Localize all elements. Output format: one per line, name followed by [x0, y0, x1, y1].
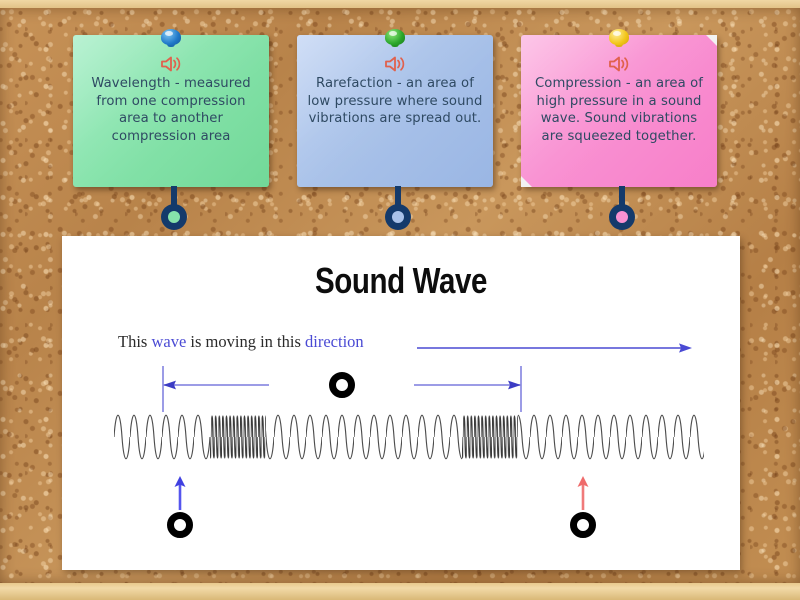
- speaker-icon[interactable]: [608, 56, 630, 72]
- card-wavelength[interactable]: Wavelength - measured from one compressi…: [73, 35, 269, 187]
- direction-arrow-icon: [417, 339, 692, 351]
- drop-target-ring-right[interactable]: [570, 512, 596, 538]
- connector-rarefaction[interactable]: [385, 186, 411, 230]
- card-corner-fold: [521, 176, 532, 187]
- connector-wavelength[interactable]: [161, 186, 187, 230]
- blue-pushpin-icon: [158, 27, 184, 53]
- connector-ring[interactable]: [161, 204, 187, 230]
- cork-board: Wavelength - measured from one compressi…: [0, 0, 800, 600]
- caption-part1: This: [118, 332, 151, 351]
- card-corner-fold: [706, 35, 717, 46]
- up-arrow-red: [577, 476, 589, 510]
- caption-highlight-wave: wave: [151, 332, 186, 351]
- caption-highlight-direction: direction: [305, 332, 364, 351]
- page-title: Sound Wave: [123, 260, 679, 302]
- connector-dot: [168, 211, 180, 223]
- card-wavelength-text: Wavelength - measured from one compressi…: [79, 75, 263, 145]
- card-compression[interactable]: Compression - an area of high pressure i…: [521, 35, 717, 187]
- wave-direction-caption: This wave is moving in this direction: [118, 332, 364, 352]
- sound-wave-panel: Sound Wave This wave is moving in this d…: [62, 236, 740, 570]
- connector-ring[interactable]: [385, 204, 411, 230]
- connector-dot: [616, 211, 628, 223]
- green-pushpin-icon: [382, 27, 408, 53]
- speaker-icon[interactable]: [160, 56, 182, 72]
- connector-ring[interactable]: [609, 204, 635, 230]
- drop-target-ring-center[interactable]: [329, 372, 355, 398]
- up-arrow-blue: [174, 476, 186, 510]
- sound-wave-graphic: [114, 406, 704, 468]
- card-rarefaction[interactable]: Rarefaction - an area of low pressure wh…: [297, 35, 493, 187]
- board-frame-top: [0, 0, 800, 8]
- card-rarefaction-text: Rarefaction - an area of low pressure wh…: [303, 75, 487, 128]
- speaker-icon[interactable]: [384, 56, 406, 72]
- connector-compression[interactable]: [609, 186, 635, 230]
- connector-dot: [392, 211, 404, 223]
- drop-target-ring-left[interactable]: [167, 512, 193, 538]
- caption-part2: is moving in this: [186, 332, 305, 351]
- card-compression-text: Compression - an area of high pressure i…: [527, 75, 711, 145]
- yellow-pushpin-icon: [606, 27, 632, 53]
- board-frame-bottom: [0, 583, 800, 600]
